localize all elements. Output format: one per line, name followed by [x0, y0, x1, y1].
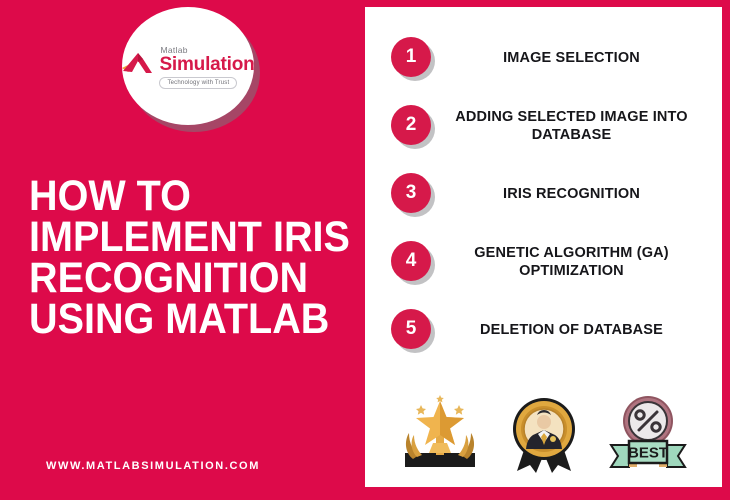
star-trophy-laurel-badge	[399, 393, 481, 473]
logo-matlab-text: Matlab	[160, 46, 187, 55]
headline-line-4: USING MATLAB	[29, 299, 314, 340]
step-label: ADDING SELECTED IMAGE INTO DATABASE	[435, 109, 710, 144]
headline-line-2: IMPLEMENT IRIS	[29, 217, 314, 258]
logo-simulation-text: Simulation	[159, 55, 254, 74]
logo-wordmark: Matlab Simulation Technology with Trust	[159, 46, 254, 89]
step-number: 2	[391, 105, 431, 145]
step-label: IMAGE SELECTION	[435, 50, 710, 68]
poster-canvas: Matlab Simulation Technology with Trust …	[0, 0, 730, 500]
brand-logo-badge: Matlab Simulation Technology with Trust	[122, 7, 254, 125]
list-item[interactable]: 1 IMAGE SELECTION	[365, 37, 722, 81]
website-url[interactable]: WWW.MATLABSIMULATION.COM	[46, 460, 260, 472]
list-item[interactable]: 4 GENETIC ALGORITHM (GA) OPTIMIZATION	[365, 241, 722, 285]
step-number-circle: 1	[391, 37, 435, 81]
step-number-circle: 4	[391, 241, 435, 285]
step-label: IRIS RECOGNITION	[435, 186, 710, 204]
list-item[interactable]: 2 ADDING SELECTED IMAGE INTO DATABASE	[365, 105, 722, 149]
step-number-circle: 2	[391, 105, 435, 149]
step-number: 1	[391, 37, 431, 77]
step-label: DELETION OF DATABASE	[435, 322, 710, 340]
step-number: 4	[391, 241, 431, 281]
award-badges: BEST	[365, 393, 722, 473]
steps-panel: 1 IMAGE SELECTION 2 ADDING SELECTED IMAG…	[365, 7, 722, 487]
matlab-membrane-icon	[121, 50, 155, 84]
list-item[interactable]: 3 IRIS RECOGNITION	[365, 173, 722, 217]
best-ribbon-text: BEST	[627, 445, 667, 462]
page-title: HOW TO IMPLEMENT IRIS RECOGNITION USING …	[29, 176, 314, 339]
logo-tagline: Technology with Trust	[159, 77, 237, 89]
headline-line-1: HOW TO	[29, 176, 314, 217]
list-item[interactable]: 5 DELETION OF DATABASE	[365, 309, 722, 353]
step-number-circle: 5	[391, 309, 435, 353]
step-number: 3	[391, 173, 431, 213]
step-label: GENETIC ALGORITHM (GA) OPTIMIZATION	[435, 245, 710, 280]
best-percent-ribbon-badge: BEST	[607, 393, 689, 473]
logo-contents: Matlab Simulation Technology with Trust	[121, 46, 254, 89]
step-number-circle: 3	[391, 173, 435, 217]
steps-list: 1 IMAGE SELECTION 2 ADDING SELECTED IMAG…	[365, 37, 722, 377]
headline-line-3: RECOGNITION	[29, 258, 314, 299]
step-number: 5	[391, 309, 431, 349]
person-medal-ribbon-badge	[503, 393, 585, 473]
